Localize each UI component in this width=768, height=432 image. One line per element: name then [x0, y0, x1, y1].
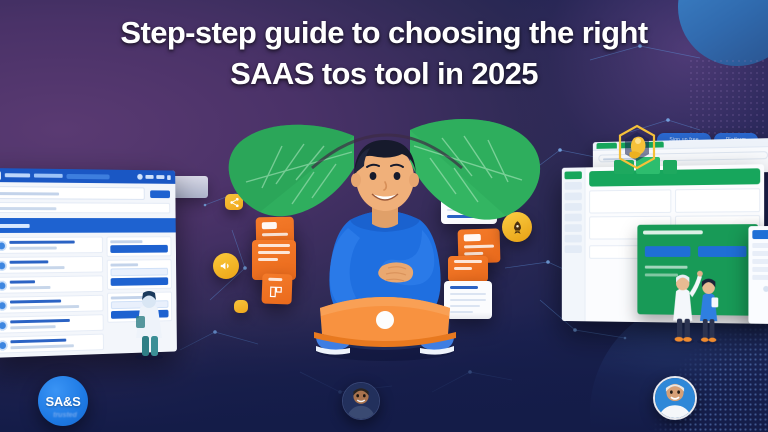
avatar	[0, 321, 7, 331]
right-dashboard-card[interactable]	[589, 189, 671, 213]
sidebar-item[interactable]	[565, 245, 582, 253]
title-line-1: Step-step guide to choosing the right	[120, 15, 647, 50]
left-dashboard-card[interactable]	[107, 236, 172, 257]
avatar	[0, 261, 7, 271]
avatar	[0, 241, 7, 251]
left-dashboard-primary-button[interactable]	[150, 190, 170, 198]
page-title: Step-step guide to choosing the right SA…	[0, 12, 768, 94]
left-dashboard-section-header	[0, 218, 176, 233]
green-panel-button[interactable]	[698, 246, 746, 257]
avatar	[0, 301, 7, 311]
saas-badge-label: SA&S	[46, 394, 81, 409]
sidebar-item[interactable]	[565, 224, 582, 232]
far-panel-button[interactable]	[752, 230, 768, 239]
title-line-2: SAAS tos tool in 2025	[36, 53, 732, 94]
left-dashboard-list	[0, 237, 104, 354]
sidebar-item[interactable]	[565, 182, 582, 190]
list-item[interactable]	[0, 314, 104, 334]
list-item[interactable]	[0, 295, 104, 314]
left-dashboard-search-input[interactable]	[0, 186, 145, 200]
center-illustration	[290, 112, 480, 364]
avatar	[0, 340, 8, 350]
list-item[interactable]	[0, 237, 103, 254]
list-item[interactable]	[0, 334, 104, 354]
left-dashboard-filter-row[interactable]	[0, 202, 170, 213]
right-dashboard-mockup[interactable]	[562, 150, 768, 356]
banner-canvas: Sign up free Platform Step-step guide to…	[0, 0, 768, 432]
right-dashboard-far-panel[interactable]	[748, 226, 768, 324]
left-dashboard-logo-icon	[0, 171, 1, 180]
sidebar-item[interactable]	[565, 214, 582, 222]
sidebar-item[interactable]	[565, 192, 582, 200]
floating-card-orange[interactable]	[261, 273, 292, 304]
man-with-laptop-illustration	[290, 112, 480, 364]
left-panel-person-illustration	[128, 274, 170, 360]
sidebar-item[interactable]	[565, 235, 582, 243]
avatar-person-right[interactable]	[653, 376, 697, 420]
right-dashboard-nav	[562, 167, 586, 321]
list-item[interactable]	[0, 256, 103, 274]
avatar-person-left[interactable]	[342, 382, 380, 420]
megaphone-icon	[213, 253, 239, 279]
right-people-illustration	[662, 258, 729, 345]
list-item[interactable]	[0, 275, 104, 294]
award-hexagon-icon	[616, 124, 658, 170]
green-panel-button[interactable]	[645, 246, 690, 257]
browser-tab[interactable]	[597, 143, 617, 149]
sidebar-item[interactable]	[565, 203, 582, 211]
saas-badge-subtext: trusted	[30, 412, 100, 419]
avatar	[0, 281, 7, 291]
sidebar-item[interactable]	[565, 171, 582, 179]
right-dashboard-card[interactable]	[675, 188, 760, 213]
green-chip	[663, 160, 677, 174]
left-dashboard-card-button[interactable]	[111, 245, 168, 253]
